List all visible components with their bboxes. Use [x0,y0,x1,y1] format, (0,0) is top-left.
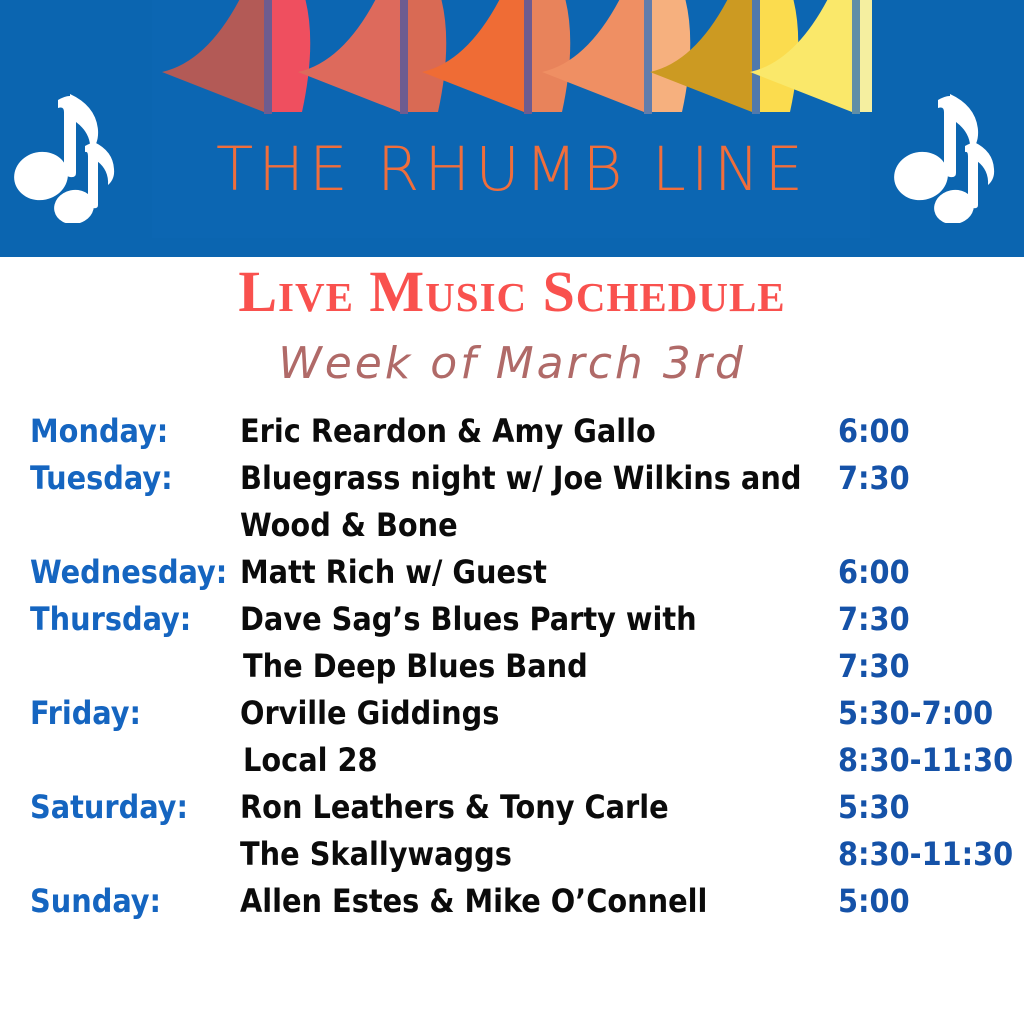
music-note-icon-right [892,78,1002,223]
schedule-row: Monday:Eric Reardon & Amy Gallo6:00 [0,408,1024,455]
schedule-act-name: Dave Sag’s Blues Party with [240,596,697,643]
schedule-act-name: Ron Leathers & Tony Carle [240,784,669,831]
schedule-time: 8:30-11:30 [838,831,1013,878]
schedule-act-name: Bluegrass night w/ Joe Wilkins and [240,455,801,502]
logo-wordmark: THE RHUMB LINE [0,137,1024,203]
schedule-time: 7:30 [838,596,910,643]
schedule-time: 7:30 [838,455,910,502]
schedule-row: Tuesday:Bluegrass night w/ Joe Wilkins a… [0,455,1024,502]
schedule-act-name: Wood & Bone [240,502,458,549]
schedule-day-label: Saturday: [30,784,188,831]
page-title: Live Music Schedule [0,258,1024,326]
schedule-act-name: The Skallywaggs [240,831,512,878]
schedule-day-label: Wednesday: [30,549,227,596]
schedule-act-name: The Deep Blues Band [243,643,588,690]
schedule-act-name: Allen Estes & Mike O’Connell [240,878,707,925]
schedule-list: Monday:Eric Reardon & Amy Gallo6:00Tuesd… [0,408,1024,925]
schedule-time: 5:00 [838,878,910,925]
schedule-day-label: Tuesday: [30,455,173,502]
page-subtitle: Week of March 3rd [0,336,1024,392]
header-banner: THE RHUMB LINE [0,0,1024,257]
schedule-row: Sunday:Allen Estes & Mike O’Connell5:00 [0,878,1024,925]
schedule-row: Saturday:Ron Leathers & Tony Carle5:30 [0,784,1024,831]
schedule-row: Wood & Bone [0,502,1024,549]
schedule-day-label: Friday: [30,690,141,737]
schedule-row: Wednesday:Matt Rich w/ Guest6:00 [0,549,1024,596]
schedule-time: 7:30 [838,643,910,690]
schedule-day-label: Sunday: [30,878,161,925]
schedule-row: Local 288:30-11:30 [0,737,1024,784]
music-note-icon-left [12,78,122,223]
schedule-time: 6:00 [838,408,910,455]
schedule-row: The Deep Blues Band7:30 [0,643,1024,690]
schedule-day-label: Thursday: [30,596,191,643]
schedule-act-name: Orville Giddings [240,690,499,737]
schedule-row: Thursday:Dave Sag’s Blues Party with7:30 [0,596,1024,643]
schedule-row: The Skallywaggs8:30-11:30 [0,831,1024,878]
schedule-time: 5:30-7:00 [838,690,993,737]
schedule-act-name: Local 28 [243,737,378,784]
schedule-time: 5:30 [838,784,910,831]
schedule-time: 8:30-11:30 [838,737,1013,784]
schedule-act-name: Matt Rich w/ Guest [240,549,547,596]
schedule-time: 6:00 [838,549,910,596]
schedule-row: Friday:Orville Giddings5:30-7:00 [0,690,1024,737]
sailboat-logo-icon [152,0,872,147]
schedule-day-label: Monday: [30,408,168,455]
schedule-act-name: Eric Reardon & Amy Gallo [240,408,656,455]
